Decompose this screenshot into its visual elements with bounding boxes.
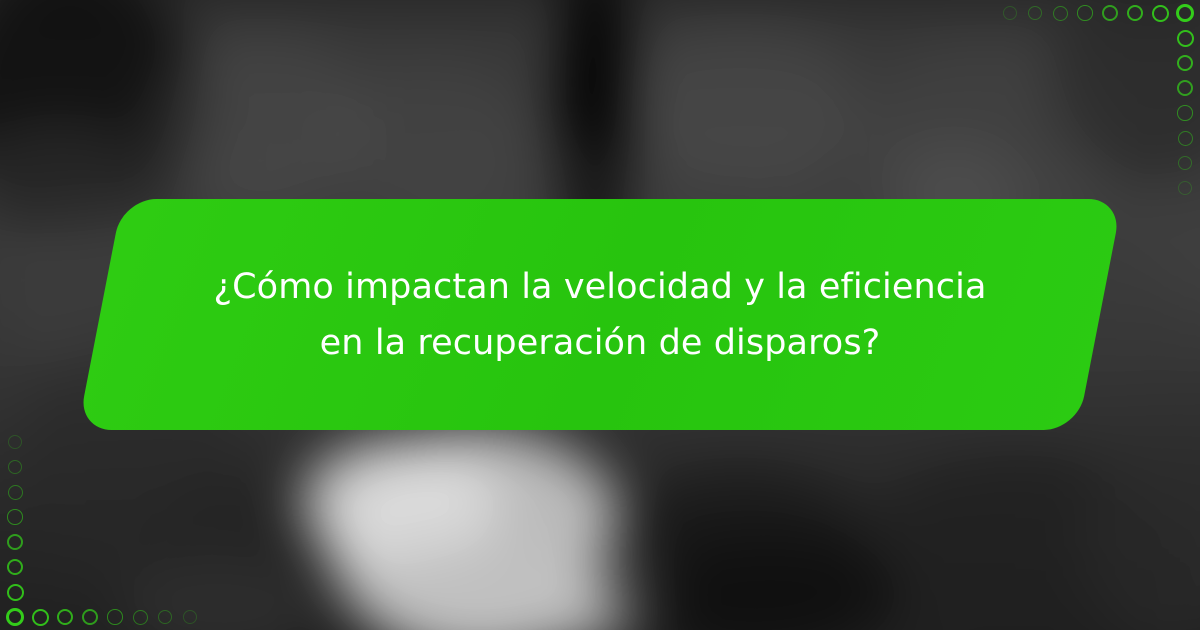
decor-dot xyxy=(1102,5,1118,21)
decor-dot xyxy=(7,509,23,525)
decor-dot xyxy=(1053,6,1068,21)
decor-dot xyxy=(7,559,24,576)
decor-dot xyxy=(1178,156,1193,171)
decor-dot xyxy=(158,610,173,625)
decor-dot xyxy=(183,610,197,624)
decor-dot xyxy=(82,609,98,625)
decor-dot xyxy=(1176,4,1194,22)
quote-text-block: ¿Cómo impactan la velocidad y la eficien… xyxy=(100,199,1100,430)
decor-dot xyxy=(7,534,23,550)
decor-dot xyxy=(1178,131,1193,146)
decor-dot xyxy=(1003,6,1017,20)
decor-dot xyxy=(6,608,24,626)
decor-dot xyxy=(8,460,23,475)
decor-dot xyxy=(1178,181,1192,195)
decor-dot xyxy=(57,609,74,626)
quote-card: ¿Cómo impactan la velocidad y la eficien… xyxy=(0,0,1200,630)
decor-dot xyxy=(7,584,24,601)
decor-dot xyxy=(32,609,49,626)
decor-dots-bottom-left xyxy=(0,415,215,630)
decor-dot xyxy=(1152,5,1169,22)
decor-dot xyxy=(107,609,123,625)
decor-dot xyxy=(1177,55,1194,72)
decor-dot xyxy=(1177,80,1193,96)
decor-dot xyxy=(8,435,22,449)
decor-dot xyxy=(8,485,23,500)
quote-line-2: en la recuperación de disparos? xyxy=(320,315,881,371)
decor-dot xyxy=(1028,6,1043,21)
decor-dot xyxy=(1177,105,1193,121)
decor-dots-top-right xyxy=(985,0,1200,215)
decor-dot xyxy=(133,610,148,625)
decor-dot xyxy=(1177,30,1194,47)
quote-line-1: ¿Cómo impactan la velocidad y la eficien… xyxy=(213,259,986,315)
decor-dot xyxy=(1127,5,1144,22)
decor-dot xyxy=(1077,5,1093,21)
quote-banner: ¿Cómo impactan la velocidad y la eficien… xyxy=(100,199,1100,430)
